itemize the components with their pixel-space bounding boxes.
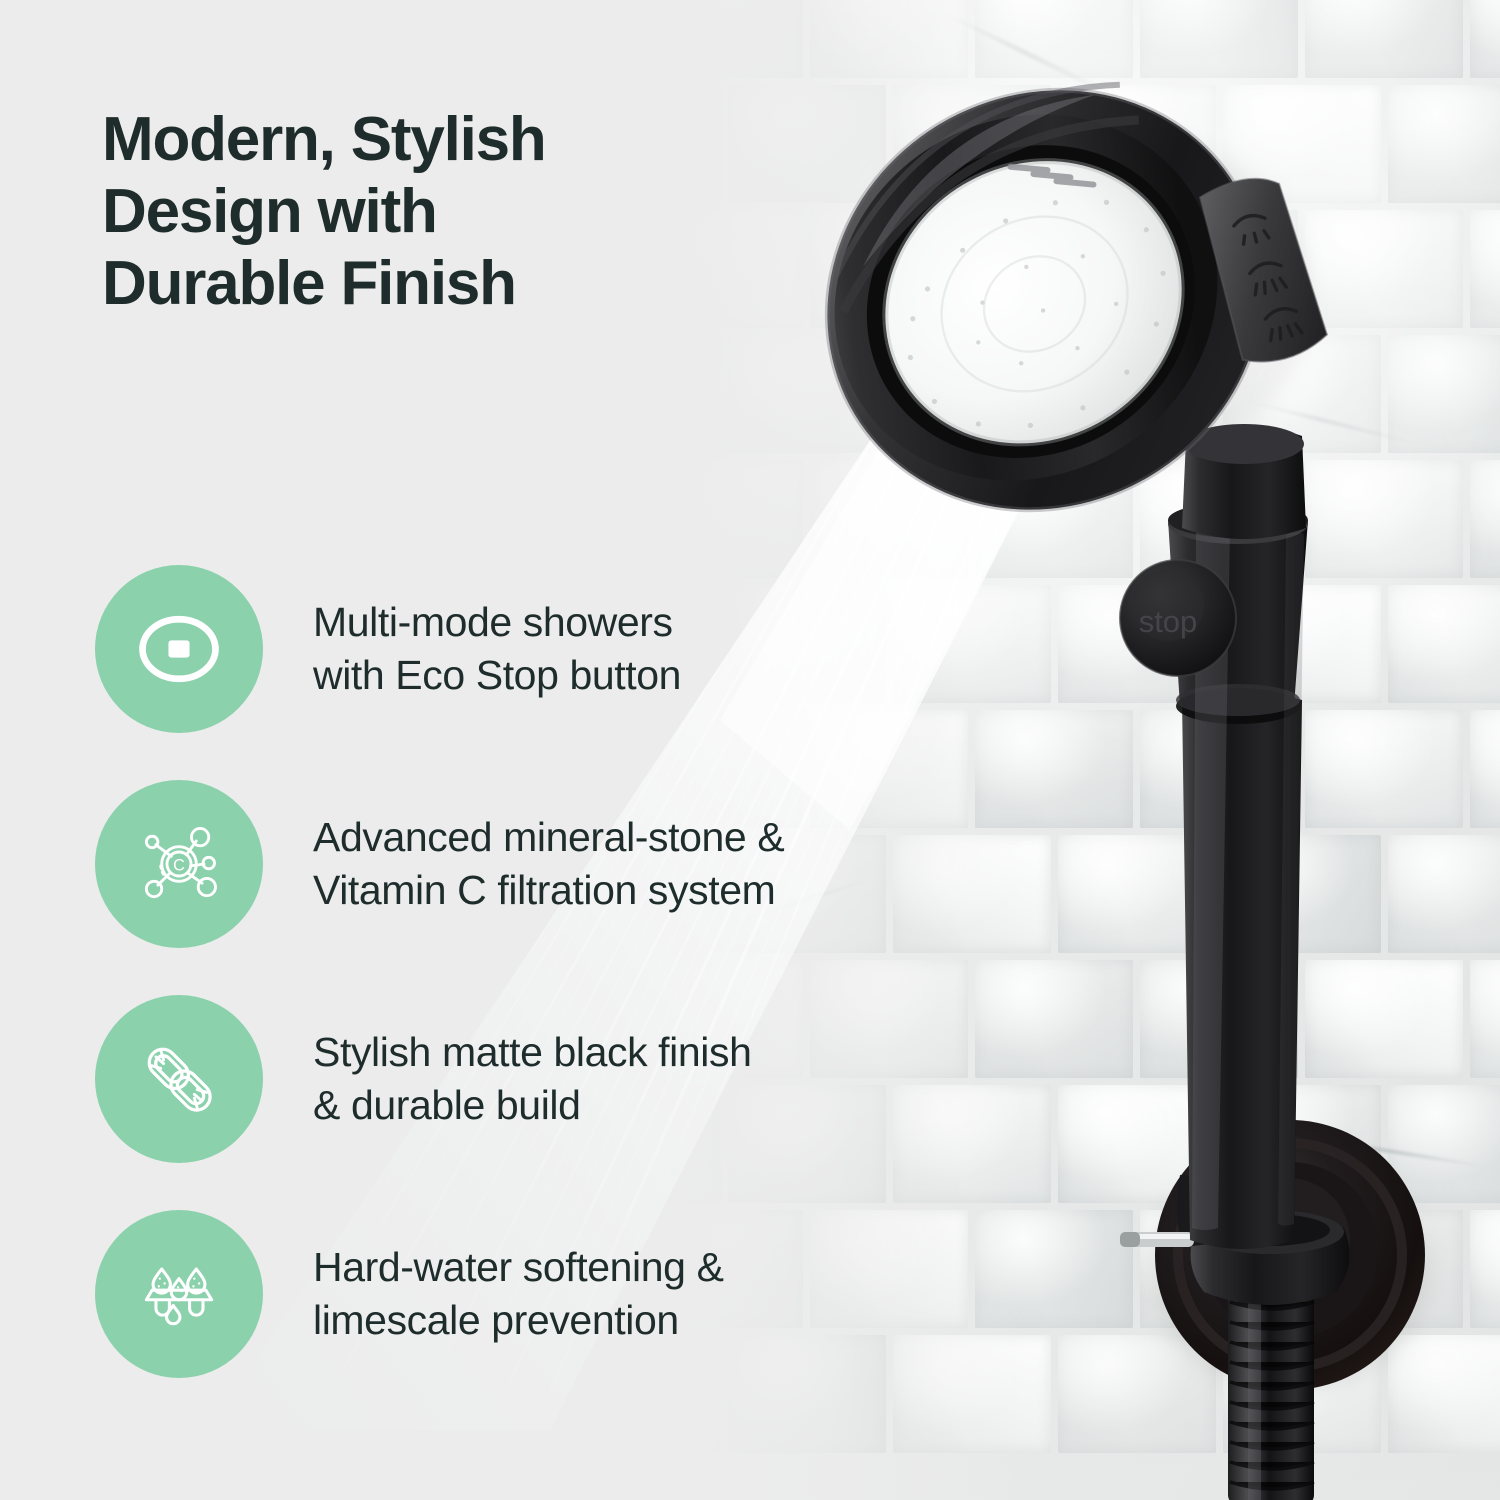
- tile: [893, 85, 1051, 203]
- stop-record-icon: [131, 601, 227, 697]
- water-droplet-filter-icon: [131, 1246, 227, 1342]
- feature-icon-badge: [95, 565, 263, 733]
- tile: [1223, 835, 1381, 953]
- tile: [1305, 710, 1463, 828]
- tile: [1140, 460, 1298, 578]
- tile: [1388, 835, 1500, 953]
- feature-label: Stylish matte black finish & durable bui…: [313, 1026, 752, 1133]
- feature-label: Multi-mode showers with Eco Stop button: [313, 596, 681, 703]
- tile: [1058, 85, 1216, 203]
- tile: [810, 460, 968, 578]
- tile: [1305, 0, 1463, 78]
- tile: [1388, 85, 1500, 203]
- tile: [810, 210, 968, 328]
- tile: [1470, 960, 1500, 1078]
- tile: [1140, 210, 1298, 328]
- feature-label: Advanced mineral-stone & Vitamin C filtr…: [313, 811, 784, 918]
- tile: [1058, 335, 1216, 453]
- tile: [1223, 585, 1381, 703]
- tile: [1470, 1210, 1500, 1328]
- feature-item: Stylish matte black finish & durable bui…: [95, 995, 1095, 1163]
- tile: [975, 460, 1133, 578]
- tile: [645, 460, 803, 578]
- tile: [600, 335, 721, 453]
- tile: [645, 0, 803, 78]
- tile: [600, 0, 638, 78]
- tile: [1388, 335, 1500, 453]
- vitamin-c-letter: C: [173, 857, 185, 875]
- tile-row: [600, 335, 1500, 453]
- tile: [1223, 1335, 1381, 1453]
- tile-row: [600, 460, 1500, 578]
- tile: [1305, 210, 1463, 328]
- feature-icon-badge: C: [95, 780, 263, 948]
- tile: [893, 335, 1051, 453]
- vitamin-c-molecule-icon: C: [131, 816, 227, 912]
- tile: [1470, 0, 1500, 78]
- tile: [1470, 210, 1500, 328]
- tile: [728, 335, 886, 453]
- feature-item: C Advanced mineral-stone & Vitamin C fil…: [95, 780, 1095, 948]
- feature-list: Multi-mode showers with Eco Stop button: [95, 565, 1095, 1378]
- chain-link-sparkle-icon: [131, 1031, 227, 1127]
- tile: [1470, 710, 1500, 828]
- feature-icon-badge: [95, 1210, 263, 1378]
- tile: [1223, 85, 1381, 203]
- tile: [1223, 335, 1381, 453]
- page-title: Modern, Stylish Design with Durable Fini…: [102, 104, 762, 320]
- feature-item: Multi-mode showers with Eco Stop button: [95, 565, 1095, 733]
- feature-label: Hard-water softening & limescale prevent…: [313, 1241, 724, 1348]
- tile: [600, 460, 638, 578]
- tile: [1140, 1210, 1298, 1328]
- tile: [1470, 460, 1500, 578]
- tile: [1305, 460, 1463, 578]
- tile: [1388, 1085, 1500, 1203]
- tile: [1140, 710, 1298, 828]
- tile: [1140, 0, 1298, 78]
- tile: [1305, 960, 1463, 1078]
- tile: [1305, 1210, 1463, 1328]
- tile: [975, 210, 1133, 328]
- tile: [1140, 960, 1298, 1078]
- feature-icon-badge: [95, 995, 263, 1163]
- product-feature-infographic: stop: [0, 0, 1500, 1500]
- tile: [1388, 585, 1500, 703]
- tile: [1388, 1335, 1500, 1453]
- feature-item: Hard-water softening & limescale prevent…: [95, 1210, 1095, 1378]
